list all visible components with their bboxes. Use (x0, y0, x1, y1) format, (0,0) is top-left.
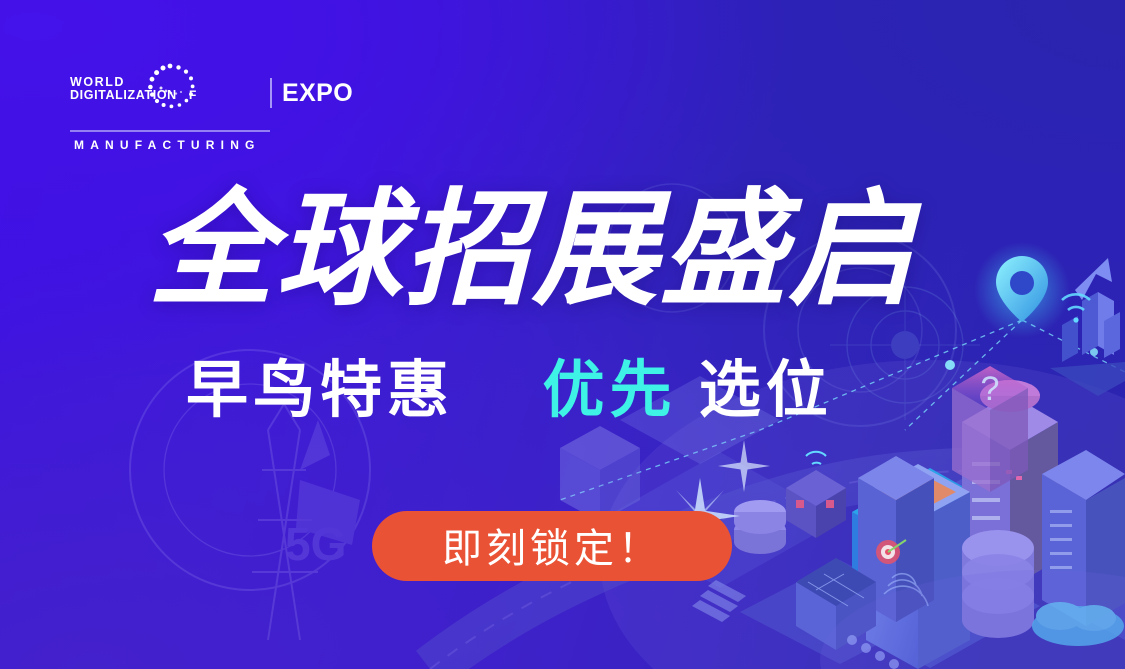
subheadline-left: 早鸟特惠 (186, 356, 454, 425)
logo-line-world: WORLD (70, 76, 177, 89)
page-title: 全球招展盛启 (148, 183, 916, 317)
subheadline-right: 选位 (699, 356, 833, 425)
logo-rule (70, 130, 270, 132)
promo-banner: 5G (0, 0, 1125, 669)
coins-stack-icon (734, 500, 786, 554)
subheadline-highlight: 优先 (542, 356, 676, 425)
lock-now-button[interactable]: 即刻锁定！ (372, 511, 732, 581)
location-pin-icon (974, 242, 1070, 338)
question-panel: ? (952, 366, 1028, 492)
logo-top-row: WORLD DIGITALIZATION F EXPO (70, 62, 292, 118)
logo-wordmark: WORLD DIGITALIZATION (70, 76, 177, 102)
logo-of-letter: F (189, 88, 196, 102)
logo-line-digitalization: DIGITALIZATION (70, 89, 177, 102)
svg-text:5G: 5G (285, 518, 346, 570)
logo-expo: EXPO (282, 78, 353, 108)
logo-subtitle: MANUFACTURING (74, 138, 261, 152)
subheadline: 早鸟特惠 优先 选位 (186, 358, 833, 424)
network-node-dot (945, 360, 955, 370)
svg-text:?: ? (981, 370, 1000, 408)
logo-divider (270, 78, 272, 108)
logo[interactable]: WORLD DIGITALIZATION F EXPO MANUFACTURIN… (70, 62, 292, 162)
